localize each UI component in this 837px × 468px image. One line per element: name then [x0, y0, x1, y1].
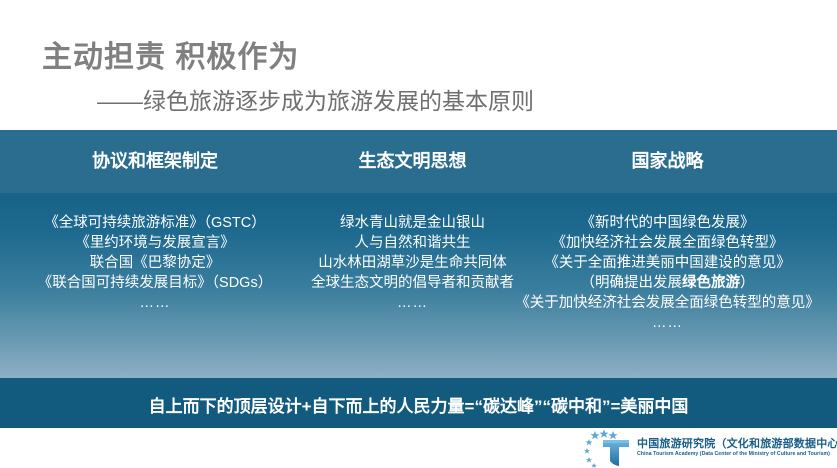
- china-tourism-academy-logo-icon: [583, 428, 635, 468]
- list-item: 《关于加快经济社会发展全面绿色转型的意见》: [515, 293, 820, 313]
- content-column-agreements: 《全球可持续旅游标准》（GSTC） 《里约环境与发展宣言》 联合国《巴黎协定》 …: [0, 193, 310, 313]
- list-item: 人与自然和谐共生: [310, 233, 515, 253]
- title-block: 主动担责 积极作为 ——绿色旅游逐步成为旅游发展的基本原则: [0, 0, 837, 130]
- column-header-band: 协议和框架制定 生态文明思想 国家战略: [0, 130, 837, 193]
- list-item: 山水林田湖草沙是生命共同体: [310, 253, 515, 273]
- list-item-ellipsis: ……: [310, 293, 515, 313]
- list-item: 《里约环境与发展宣言》: [0, 233, 310, 253]
- list-item: 联合国《巴黎协定》: [0, 253, 310, 273]
- content-panel: 《全球可持续旅游标准》（GSTC） 《里约环境与发展宣言》 联合国《巴黎协定》 …: [0, 193, 837, 378]
- list-item-emphasis: （明确提出发展绿色旅游）: [515, 273, 820, 293]
- conclusion-banner: 自上而下的顶层设计+自下而上的人民力量=“碳达峰”“碳中和”=美丽中国: [0, 378, 837, 428]
- conclusion-banner-text: 自上而下的顶层设计+自下而上的人民力量=“碳达峰”“碳中和”=美丽中国: [0, 392, 837, 417]
- page-subtitle: ——绿色旅游逐步成为旅游发展的基本原则: [97, 82, 534, 116]
- content-column-ecological-thought: 绿水青山就是金山银山 人与自然和谐共生 山水林田湖草沙是生命共同体 全球生态文明…: [310, 193, 515, 313]
- page-title: 主动担责 积极作为: [42, 32, 299, 76]
- list-item: 《全球可持续旅游标准》（GSTC）: [0, 213, 310, 233]
- list-item: 《关于全面推进美丽中国建设的意见》: [515, 253, 820, 273]
- list-item: 《联合国可持续发展目标》（SDGs）: [0, 273, 310, 293]
- list-item: 《加快经济社会发展全面绿色转型》: [515, 233, 820, 253]
- list-item: 《新时代的中国绿色发展》: [515, 213, 820, 233]
- content-column-national-strategy: 《新时代的中国绿色发展》 《加快经济社会发展全面绿色转型》 《关于全面推进美丽中…: [515, 193, 820, 333]
- org-name-cn: 中国旅游研究院（文化和旅游部数据中心）: [637, 438, 837, 451]
- list-item-ellipsis: ……: [515, 313, 820, 333]
- column-header-ecological-thought: 生态文明思想: [310, 147, 515, 173]
- footer-logo: 中国旅游研究院（文化和旅游部数据中心） China Tourism Academ…: [583, 428, 837, 468]
- list-item-ellipsis: ……: [0, 293, 310, 313]
- column-header-national-strategy: 国家战略: [515, 147, 820, 173]
- column-header-agreements: 协议和框架制定: [0, 147, 310, 173]
- list-item: 绿水青山就是金山银山: [310, 213, 515, 233]
- org-name-en: China Tourism Academy (Data Center of th…: [637, 452, 837, 458]
- list-item: 全球生态文明的倡导者和贡献者: [310, 273, 515, 293]
- logo-text-group: 中国旅游研究院（文化和旅游部数据中心） China Tourism Academ…: [637, 438, 837, 459]
